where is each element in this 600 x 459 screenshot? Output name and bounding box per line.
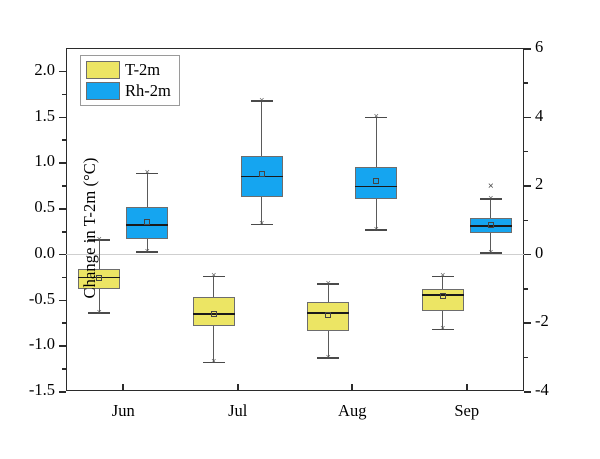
legend: T-2m Rh-2m [80,55,180,106]
legend-label-t2m: T-2m [125,60,160,80]
left-tick-label: -1.0 [29,334,55,354]
x-label-jul: Jul [198,401,278,421]
legend-item-t2m: T-2m [86,60,171,80]
boxplot-figure: 2.01.51.00.50.0-0.5-1.0-1.5 6420-2-4 Jun… [0,0,600,459]
right-tick-mark [524,117,531,119]
right-tick-label: -4 [535,380,549,400]
left-minor-tick-mark [62,277,66,279]
left-tick-label: 0.5 [34,197,55,217]
right-tick-mark [524,254,531,256]
extreme-marker-upper: × [486,194,495,203]
left-minor-tick-mark [62,368,66,370]
left-tick-mark [59,71,66,73]
plot-area: 2.01.51.00.50.0-0.5-1.0-1.5 6420-2-4 Jun… [66,48,524,391]
left-minor-tick-mark [62,139,66,141]
mean-marker [440,293,446,299]
extreme-marker-lower: × [143,247,152,256]
box-rh2m-aug: ×× [355,48,397,391]
right-tick-mark [524,48,531,50]
mean-marker [373,178,379,184]
x-tick-aug [351,384,353,391]
extreme-marker-upper: × [372,112,381,121]
x-label-sep: Sep [427,401,507,421]
left-tick-label: -0.5 [29,289,55,309]
left-minor-tick-mark [62,94,66,96]
extreme-marker-upper: × [209,271,218,280]
left-tick-label: 2.0 [34,60,55,80]
left-tick-mark [59,208,66,210]
left-tick-mark [59,254,66,256]
legend-swatch-rh2m [86,82,120,100]
x-tick-sep [466,384,468,391]
mean-marker [259,171,265,177]
mean-marker [325,312,331,318]
left-minor-tick-mark [62,322,66,324]
left-tick-label: 1.5 [34,106,55,126]
right-tick-label: 2 [535,174,543,194]
extreme-marker-lower: × [257,219,266,228]
x-tick-jun [122,384,124,391]
right-tick-mark [524,185,531,187]
right-tick-mark [524,391,531,393]
extreme-marker-upper: × [324,279,333,288]
left-tick-mark [59,162,66,164]
right-tick-label: 0 [535,243,543,263]
x-label-aug: Aug [312,401,392,421]
left-tick-mark [59,300,66,302]
right-tick-mark [524,322,531,324]
right-tick-label: -2 [535,311,549,331]
extreme-marker-lower: × [324,353,333,362]
right-minor-tick-mark [524,357,528,359]
right-minor-tick-mark [524,220,528,222]
extreme-marker-upper: × [438,271,447,280]
legend-item-rh2m: Rh-2m [86,81,171,101]
legend-swatch-t2m [86,61,120,79]
mean-marker [211,311,217,317]
extreme-marker-upper: × [143,168,152,177]
legend-label-rh2m: Rh-2m [125,81,171,101]
box-t2m-sep: ×× [422,48,464,391]
left-tick-mark [59,345,66,347]
extreme-marker-upper: × [257,96,266,105]
right-tick-label: 6 [535,37,543,57]
left-tick-label: 0.0 [34,243,55,263]
mean-marker [488,222,494,228]
x-label-jun: Jun [83,401,163,421]
box-t2m-aug: ×× [307,48,349,391]
left-tick-label: -1.5 [29,380,55,400]
outlier-marker-0: × [486,182,495,191]
left-tick-mark [59,117,66,119]
right-minor-tick-mark [524,288,528,290]
right-minor-tick-mark [524,82,528,84]
left-axis-title: Change in T-2m (°C) [80,118,100,338]
extreme-marker-lower: × [209,357,218,366]
extreme-marker-lower: × [438,324,447,333]
extreme-marker-lower: × [372,225,381,234]
median-line [355,186,397,188]
box-rh2m-sep: ××× [470,48,512,391]
mean-marker [144,219,150,225]
box-rh2m-jul: ×× [241,48,283,391]
left-tick-mark [59,391,66,393]
x-tick-jul [237,384,239,391]
right-tick-label: 4 [535,106,543,126]
left-minor-tick-mark [62,185,66,187]
extreme-marker-lower: × [486,248,495,257]
left-tick-label: 1.0 [34,151,55,171]
box-t2m-jul: ×× [193,48,235,391]
left-minor-tick-mark [62,231,66,233]
right-minor-tick-mark [524,151,528,153]
